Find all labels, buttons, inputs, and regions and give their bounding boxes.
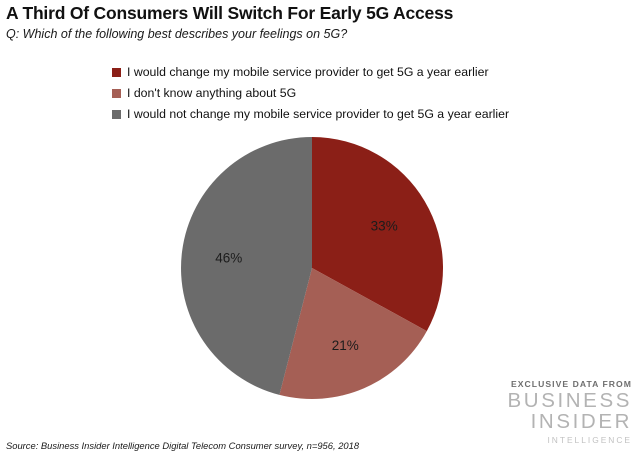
legend-item-label: I would not change my mobile service pro…: [127, 107, 509, 121]
chart-subtitle: Q: Which of the following best describes…: [6, 25, 634, 43]
pie-chart-svg: 33%21%46%: [180, 136, 444, 400]
source-note: Source: Business Insider Intelligence Di…: [6, 440, 359, 451]
legend-item-label: I would change my mobile service provide…: [127, 65, 489, 79]
chart-legend: I would change my mobile service provide…: [112, 62, 582, 125]
brand-word-business: BUSINESS: [442, 390, 632, 411]
pie-chart: 33%21%46%: [180, 136, 444, 400]
legend-item[interactable]: I don't know anything about 5G: [112, 83, 582, 103]
pie-slice-label: 33%: [371, 218, 398, 233]
brand-block: EXCLUSIVE DATA FROM BUSINESS INSIDER INT…: [442, 378, 632, 446]
legend-swatch-icon: [112, 89, 121, 98]
pie-slice-group: [181, 137, 443, 399]
legend-item-label: I don't know anything about 5G: [127, 86, 296, 100]
pie-slice-label: 46%: [215, 251, 242, 266]
chart-header: A Third Of Consumers Will Switch For Ear…: [6, 2, 634, 43]
legend-swatch-icon: [112, 68, 121, 77]
legend-item[interactable]: I would change my mobile service provide…: [112, 62, 582, 82]
legend-item[interactable]: I would not change my mobile service pro…: [112, 104, 582, 124]
legend-swatch-icon: [112, 110, 121, 119]
brand-word-insider: INSIDER: [442, 411, 632, 432]
pie-slice-label: 21%: [332, 338, 359, 353]
brand-tagline: INTELLIGENCE: [442, 434, 632, 446]
page-title: A Third Of Consumers Will Switch For Ear…: [6, 2, 634, 24]
